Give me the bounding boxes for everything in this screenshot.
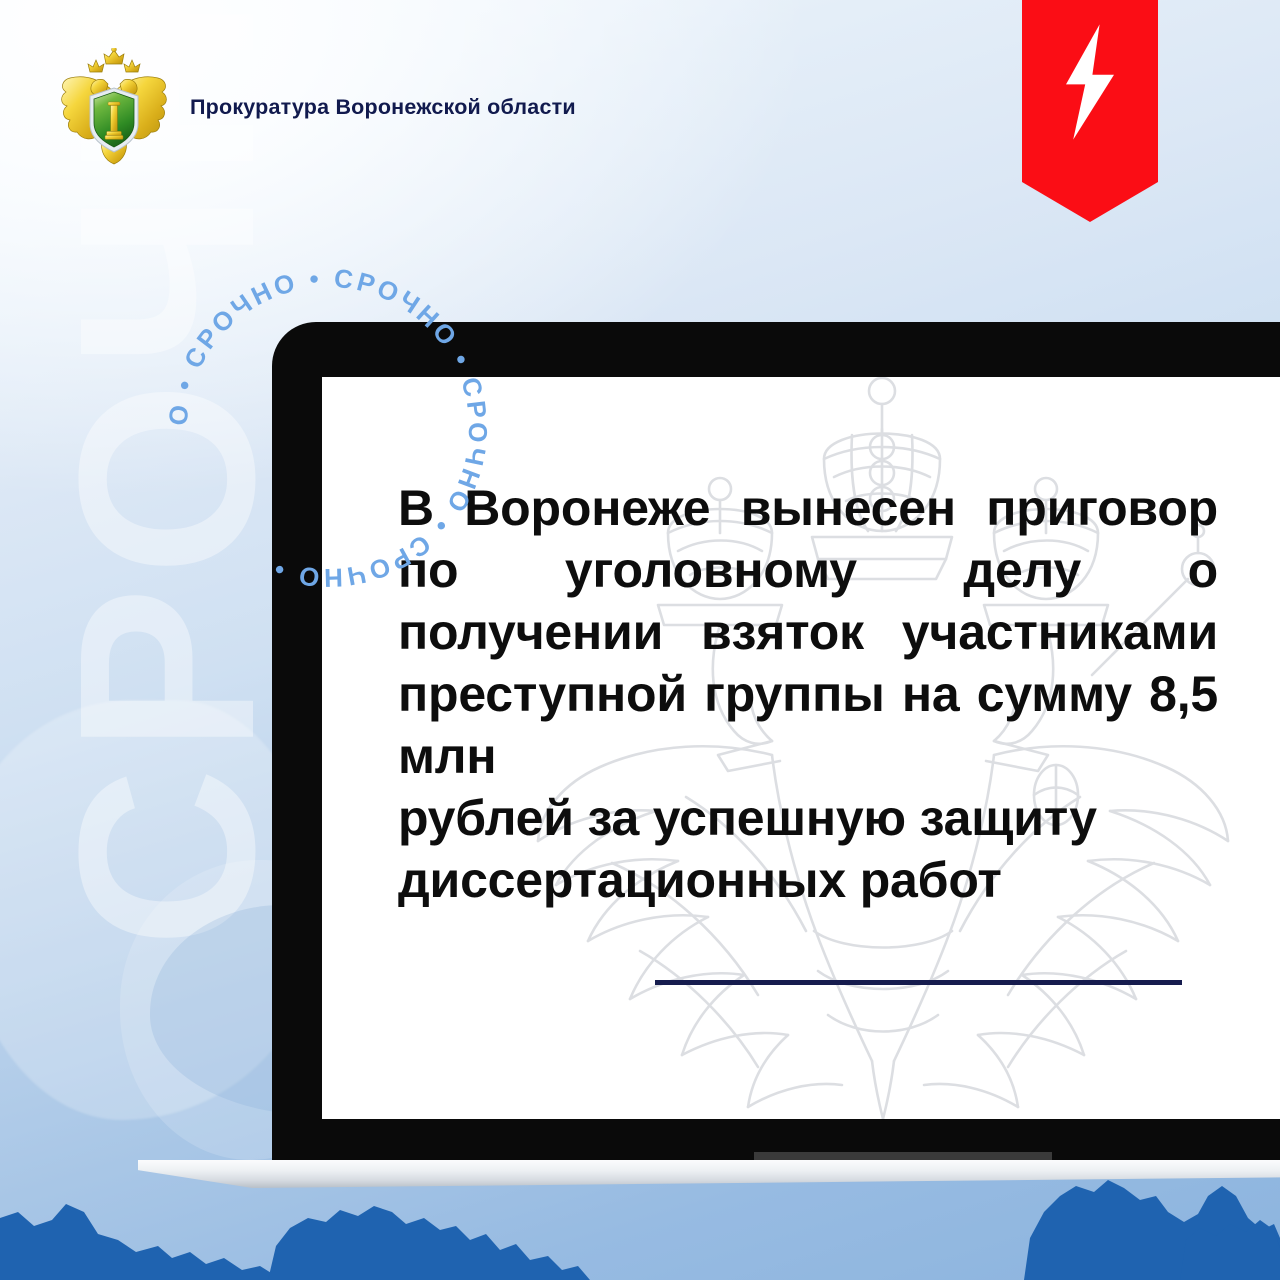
- headline-text: В Воронеже вынесен приговор по уголовном…: [398, 477, 1218, 911]
- headline-body: В Воронеже вынесен приговор по уголовном…: [398, 480, 1218, 784]
- urgent-badge-text: СРОЧНО • СРОЧНО • СРОЧНО • СРОЧНО • СРОЧ…: [152, 252, 493, 593]
- poster-canvas: СРОЧНО: [0, 0, 1280, 1280]
- header-title: Прокуратура Воронежской области: [190, 95, 576, 120]
- urgent-circular-badge: СРОЧНО • СРОЧНО • СРОЧНО • СРОЧНО • СРОЧ…: [152, 252, 504, 604]
- headline-final-line: диссертационных работ: [398, 849, 1218, 911]
- lightning-bolt-icon: [1054, 0, 1126, 147]
- headline-last-line: рублей за успешную защиту: [398, 787, 1218, 849]
- prosecutor-eagle-emblem-icon: [58, 48, 170, 166]
- urgent-badge-textpath: СРОЧНО • СРОЧНО • СРОЧНО • СРОЧНО • СРОЧ…: [152, 252, 493, 593]
- laptop-base: [138, 1160, 1280, 1188]
- headline-divider-rule: [655, 980, 1182, 985]
- header: Прокуратура Воронежской области: [58, 48, 576, 166]
- urgent-ribbon: [1022, 0, 1158, 222]
